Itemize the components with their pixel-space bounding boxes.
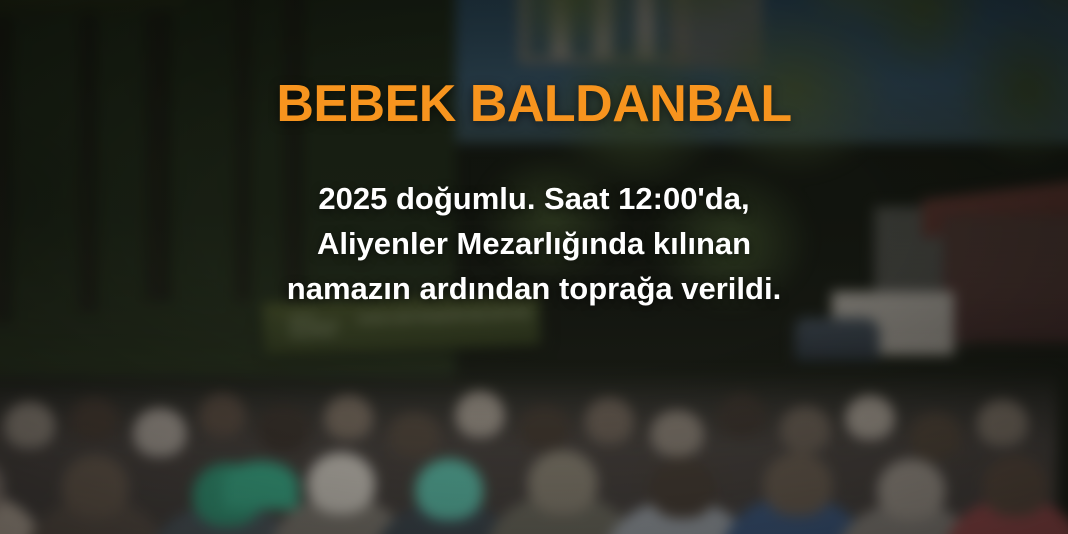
funeral-details-line-2: Aliyenler Mezarlığında kılınan [214, 221, 854, 266]
deceased-name-headline: BEBEK BALDANBAL [276, 78, 791, 130]
funeral-details-line-3: namazın ardından toprağa verildi. [214, 266, 854, 311]
funeral-details-line-1: 2025 doğumlu. Saat 12:00'da, [214, 176, 854, 221]
obituary-card: KONYA BÜYÜKŞEHİR BELEDİYESİ KONYABÜYÜKŞE… [0, 0, 1068, 534]
text-layer: BEBEK BALDANBAL 2025 doğumlu. Saat 12:00… [0, 0, 1068, 534]
funeral-details-text: 2025 doğumlu. Saat 12:00'da, Aliyenler M… [214, 176, 854, 311]
